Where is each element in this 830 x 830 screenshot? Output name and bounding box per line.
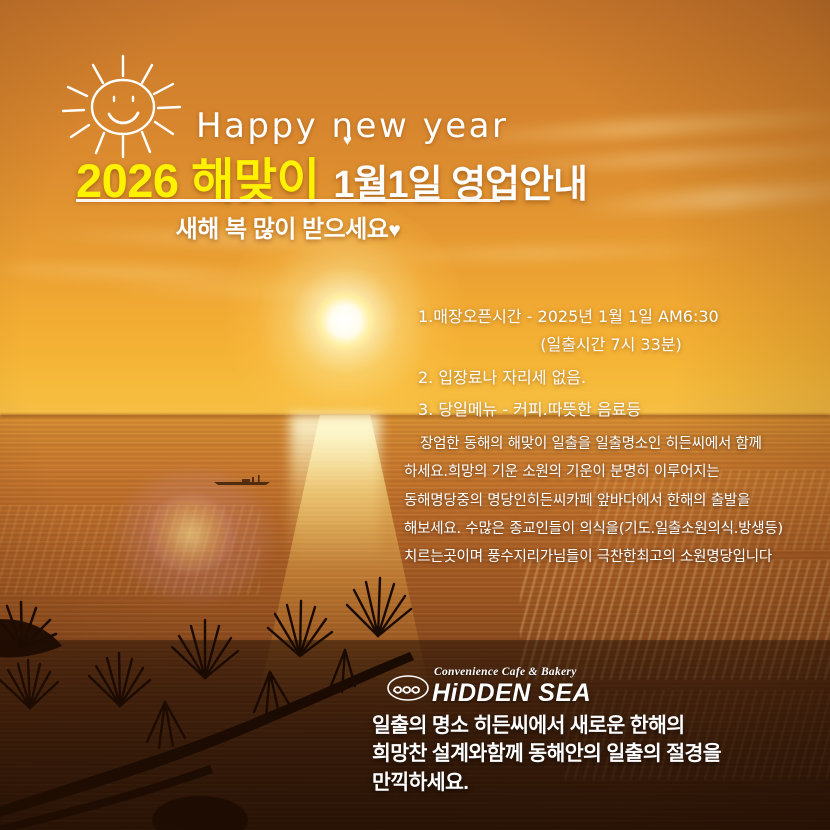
list-item: 3. 당일메뉴 - 커피.따뜻한 음료등 [418,399,816,422]
sunrise-sun [316,292,374,350]
paragraph-line: 하세요.희망의 기운 소원의 기운이 분명히 이루어지는 [404,458,828,486]
closing-line: 만끽하세요. [372,769,830,797]
paragraph-line: 장엄한 동해의 해맞이 일출을 일출명소인 히든씨에서 함께 [404,430,828,458]
paragraph-line: 동해명당중의 명당인히든씨카페 앞바다에서 한해의 출발을 [404,487,828,515]
new-year-sunrise-poster: Happy new year ♥ 2026 해맞이 1월1일 영업안내 새해 복… [0,0,830,830]
greeting-text: 새해 복 많이 받으세요♥ [76,209,500,244]
title-divider [76,199,500,202]
info-list: 1.매장오픈시간 - 2025년 1월 1일 AM6:30 (일출시간 7시 3… [418,306,816,431]
fishing-boat-silhouette [212,473,272,486]
list-item: 2. 입장료나 자리세 없음. [418,367,816,390]
paragraph-line: 치르는곳이며 풍수지리가님들이 극찬한최고의 소원명당입니다 [404,543,828,571]
greeting-label: 새해 복 많이 받으세요 [176,216,389,243]
hidden-sea-wave-mark-icon [386,674,430,702]
closing-line: 희망찬 설계와함께 동해안의 일출의 절경을 [372,740,830,768]
paragraph-line: 해보세요. 수많은 종교인들이 의식을(기도.일출소원의식.방생등) [404,515,828,543]
list-item: 1.매장오픈시간 - 2025년 1월 1일 AM6:30 [418,306,816,329]
closing-line: 일출의 명소 히든씨에서 새로운 한해의 [372,712,830,740]
description-paragraph: 장엄한 동해의 해맞이 일출을 일출명소인 히든씨에서 함께 하세요.희망의 기… [404,430,828,571]
closing-message: 일출의 명소 히든씨에서 새로운 한해의 희망찬 설계와함께 동해안의 일출의 … [372,712,830,797]
brand-logo: Convenience Cafe & Bakery HiDDEN SEA [386,666,586,710]
logo-tagline: Convenience Cafe & Bakery [434,666,577,678]
sun-reflection-core [290,415,380,565]
logo-name: HiDDEN SEA [432,679,591,708]
heart-icon: ♥ [388,219,400,242]
eyebrow-text: Happy new year [196,106,508,146]
list-item: (일출시간 7시 33분) [418,334,816,357]
